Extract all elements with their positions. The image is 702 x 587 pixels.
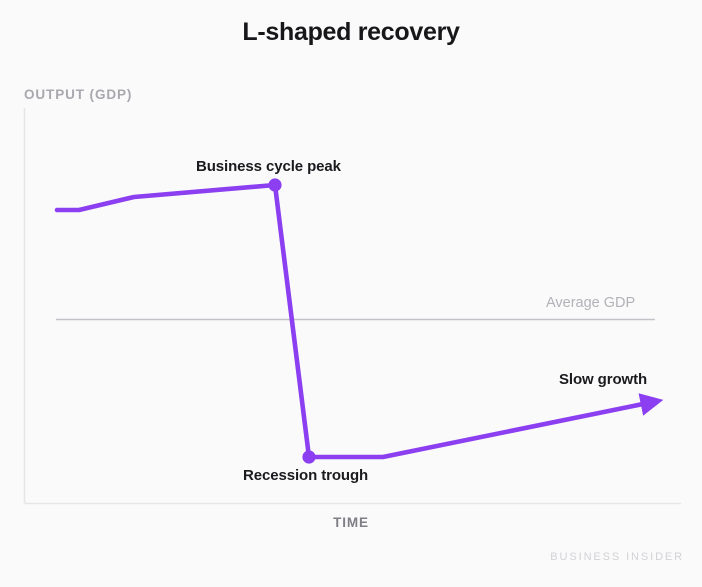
marker-business-cycle-peak xyxy=(268,178,281,191)
x-axis-label: TIME xyxy=(0,515,702,530)
business-insider-watermark: BUSINESS INSIDER xyxy=(550,551,684,563)
annotation-business-cycle-peak: Business cycle peak xyxy=(196,158,341,175)
annotation-average-gdp: Average GDP xyxy=(546,295,635,311)
chart-figure: L-shaped recovery OUTPUT (GDP) Business … xyxy=(0,0,702,587)
marker-recession-trough xyxy=(302,450,315,463)
gdp-line-series xyxy=(57,185,648,457)
plot-area xyxy=(0,0,702,587)
annotation-slow-growth: Slow growth xyxy=(559,371,647,388)
annotation-recession-trough: Recession trough xyxy=(243,467,368,484)
